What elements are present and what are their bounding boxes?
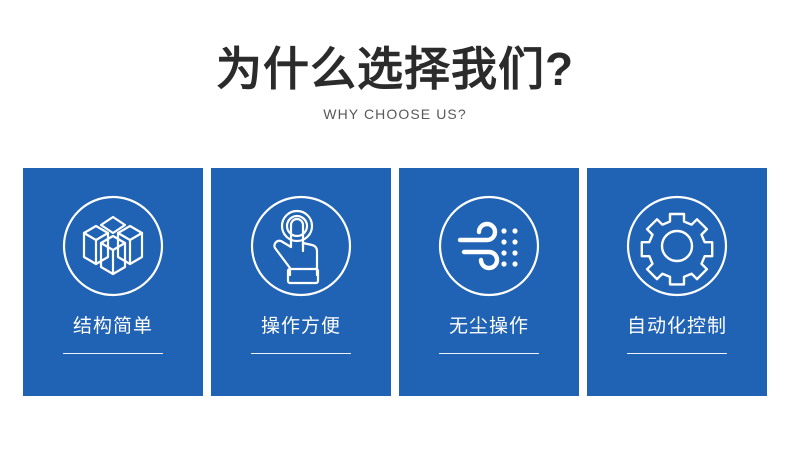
label-underline bbox=[251, 353, 351, 354]
page-subtitle: WHY CHOOSE US? bbox=[0, 106, 790, 122]
label-underline bbox=[63, 353, 163, 354]
feature-card-label: 自动化控制 bbox=[627, 315, 727, 339]
feature-card-label: 结构简单 bbox=[73, 315, 153, 339]
heading-block: 为什么选择我们? WHY CHOOSE US? bbox=[0, 40, 790, 122]
hand-tap-icon bbox=[250, 195, 352, 297]
feature-card-dustfree[interactable]: 无尘操作 bbox=[399, 168, 579, 396]
why-choose-us-section: 为什么选择我们? WHY CHOOSE US? bbox=[0, 0, 790, 455]
page-title: 为什么选择我们? bbox=[0, 40, 790, 98]
cubes-icon bbox=[62, 195, 164, 297]
feature-card-list: 结构简单 操作 bbox=[23, 168, 767, 396]
wind-dust-icon bbox=[438, 195, 540, 297]
label-underline bbox=[439, 353, 539, 354]
label-underline bbox=[627, 353, 727, 354]
feature-card-structure[interactable]: 结构简单 bbox=[23, 168, 203, 396]
gear-icon bbox=[626, 195, 728, 297]
feature-card-automation[interactable]: 自动化控制 bbox=[587, 168, 767, 396]
feature-card-operation[interactable]: 操作方便 bbox=[211, 168, 391, 396]
feature-card-label: 操作方便 bbox=[261, 315, 341, 339]
feature-card-label: 无尘操作 bbox=[449, 315, 529, 339]
